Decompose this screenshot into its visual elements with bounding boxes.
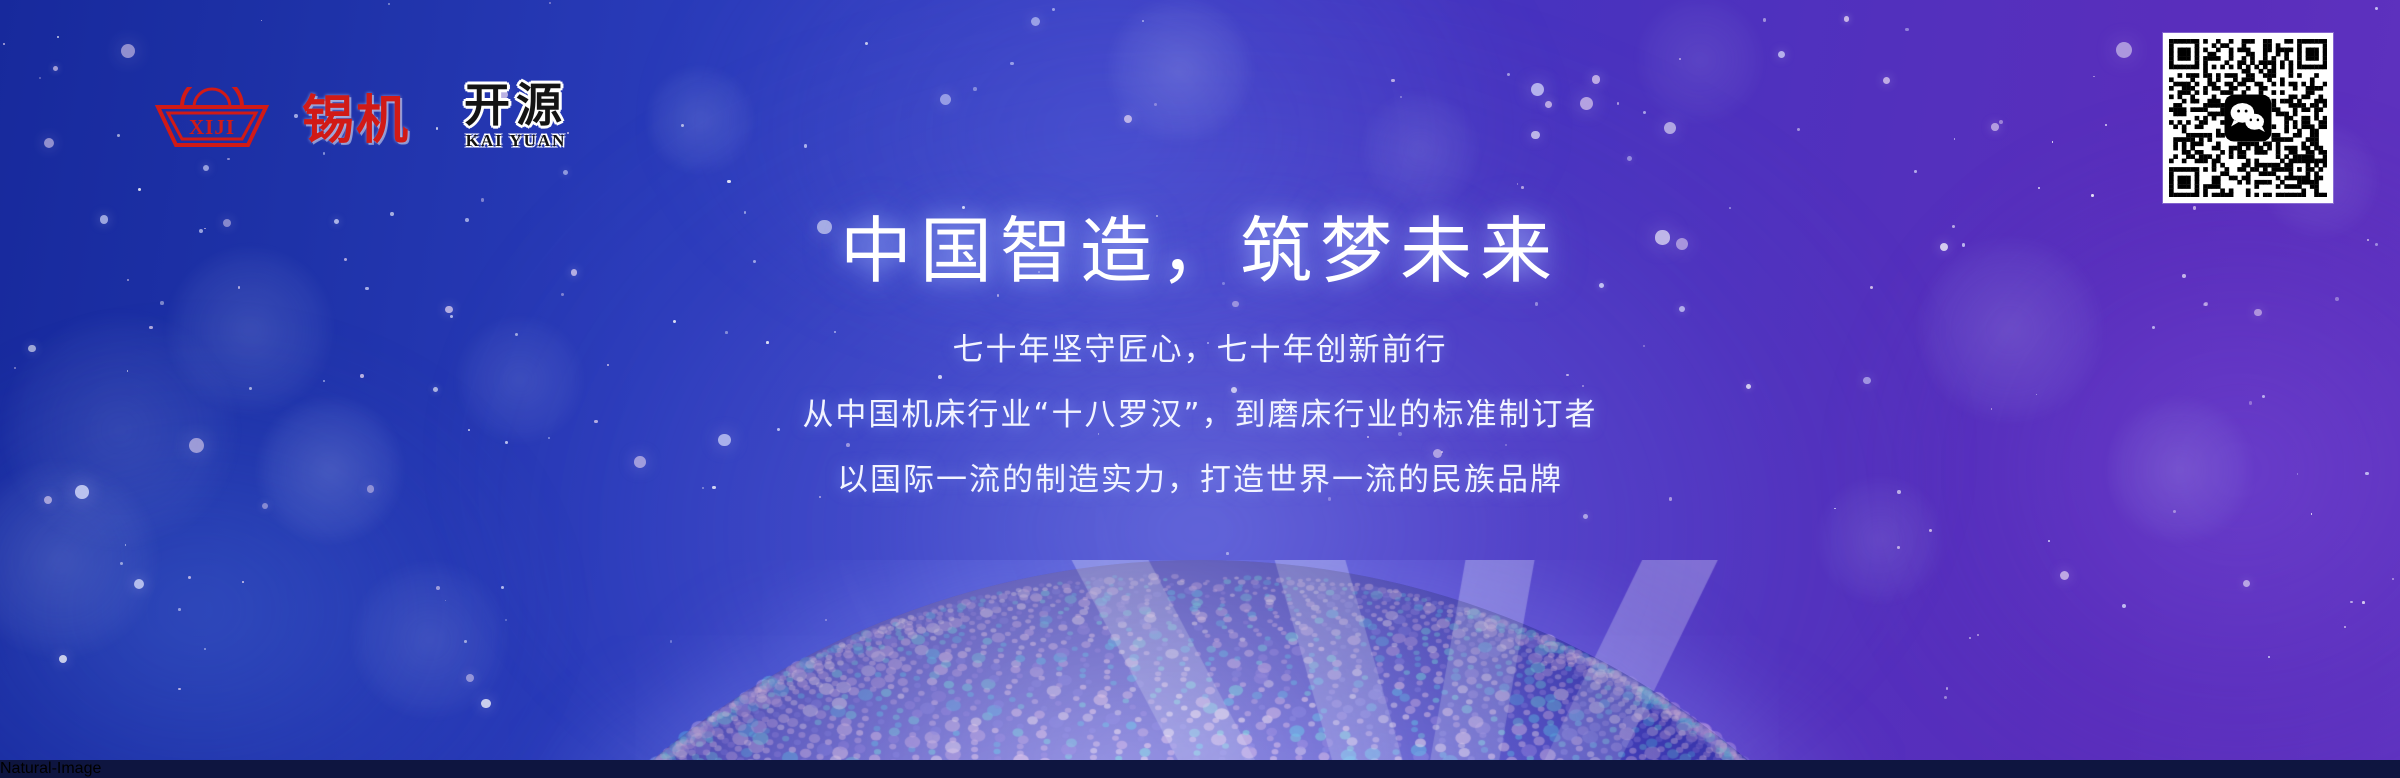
particle-dot [2091, 194, 2094, 197]
particle-dot [2268, 656, 2270, 658]
subline-3: 以国际一流的制造实力，打造世界一流的民族品牌 [0, 465, 2400, 496]
particle-dot [261, 20, 263, 22]
particle-dot [39, 77, 41, 79]
particle-dot [1400, 96, 1402, 98]
bokeh-circle [1635, 0, 1765, 125]
particle-dot [1627, 156, 1632, 161]
particle-dot [865, 42, 869, 46]
particle-dot [2350, 601, 2352, 603]
subline-list: 七十年坚守匠心，七十年创新前行 从中国机床行业“十八罗汉”，到磨床行业的标准制订… [0, 335, 2400, 496]
particle-dot [2105, 124, 2107, 126]
particle-dot [2038, 187, 2040, 189]
particle-dot [1664, 122, 1676, 134]
wechat-qr-code[interactable] [2163, 33, 2333, 203]
dotted-globe [350, 560, 2050, 760]
particle-dot [1389, 606, 1392, 609]
particle-dot [1545, 101, 1552, 108]
particle-dot [323, 152, 325, 154]
particle-dot [2048, 540, 2050, 542]
particle-dot [1507, 73, 1510, 76]
particle-dot [2344, 626, 2346, 628]
particle-dot [505, 619, 507, 621]
particle-dot [1844, 16, 1849, 21]
particle-dot [1669, 497, 1673, 501]
particle-dot [563, 170, 568, 175]
particle-dot [1361, 664, 1368, 671]
promo-banner: XIJI 锡机 开源 KAI YUAN 中国智造，筑梦未来 七十年坚守匠心，七十… [0, 0, 2400, 760]
particle-dot [1897, 546, 1900, 549]
particle-dot [2052, 141, 2054, 143]
particle-dot [804, 144, 807, 147]
particle-dot [2093, 76, 2095, 78]
subline-2: 从中国机床行业“十八罗汉”，到磨床行业的标准制订者 [0, 400, 2400, 431]
particle-dot [53, 66, 58, 71]
particle-dot [1583, 514, 1588, 519]
particle-dot [227, 158, 229, 160]
particle-dot [1031, 17, 1040, 26]
particle-dot [138, 188, 141, 191]
particle-dot [1142, 20, 1144, 22]
globe-dot-pattern [350, 560, 2050, 760]
particle-dot [1531, 83, 1544, 96]
particle-dot [2311, 513, 2313, 515]
particle-dot [1905, 28, 1909, 32]
particle-dot [481, 198, 485, 202]
particle-dot [1834, 508, 1836, 510]
particle-dot [121, 44, 135, 58]
particle-dot [1521, 186, 1524, 189]
particle-dot [1929, 529, 1933, 533]
particle-dot [1124, 115, 1132, 123]
particle-dot [204, 648, 206, 650]
particle-dot [436, 586, 440, 590]
company-logo[interactable]: XIJI 锡机 开源 KAI YUAN [152, 82, 568, 149]
banner-copy: 中国智造，筑梦未来 七十年坚守匠心，七十年创新前行 从中国机床行业“十八罗汉”，… [0, 212, 2400, 496]
particle-dot [2122, 604, 2126, 608]
particle-dot [681, 124, 684, 127]
kaiyuan-mark: 开源 KAI YUAN [464, 82, 568, 149]
bokeh-circle [1360, 90, 1480, 210]
particle-dot [1617, 102, 1619, 104]
particle-dot [1999, 120, 2003, 124]
bokeh-circle [350, 560, 510, 720]
particle-dot [3, 43, 5, 45]
particle-dot [445, 600, 447, 602]
particle-dot [2116, 42, 2132, 58]
particle-dot [134, 579, 144, 589]
particle-dot [1969, 637, 1971, 639]
kaiyuan-cn: 开源 [464, 82, 568, 128]
particle-dot [1010, 62, 1014, 66]
particle-dot [1991, 123, 1998, 130]
particle-dot [973, 87, 977, 91]
particle-dot [1531, 131, 1540, 140]
particle-dot [1592, 75, 1601, 84]
particle-dot [2193, 206, 2196, 209]
particle-dot [1944, 696, 1947, 699]
particle-dot [125, 544, 127, 546]
particle-dot [1729, 207, 1731, 209]
particle-dot [188, 576, 191, 579]
particle-dot [501, 586, 504, 589]
particle-dot [57, 36, 59, 38]
particle-dot [1797, 128, 1800, 131]
bokeh-circle [645, 65, 755, 175]
particle-dot [670, 640, 672, 642]
globe-shading [350, 560, 2050, 760]
particle-dot [59, 655, 67, 663]
particle-dot [2060, 571, 2069, 580]
particle-dot [1580, 97, 1593, 110]
particle-dot [1914, 170, 1917, 173]
particle-dot [1977, 634, 1979, 636]
particle-dot [120, 562, 123, 565]
brand-name-cn: 锡机 [302, 95, 410, 149]
subline-1: 七十年坚守匠心，七十年创新前行 [0, 335, 2400, 366]
particle-dot [117, 134, 120, 137]
particle-dot [481, 699, 491, 709]
particle-dot [44, 138, 54, 148]
particle-dot [727, 180, 730, 183]
particle-dot [2173, 510, 2176, 513]
particle-dot [1051, 662, 1060, 671]
particle-dot [825, 619, 827, 621]
particle-dot [1679, 58, 1681, 60]
particle-dot [178, 608, 181, 611]
particle-dot [242, 581, 244, 583]
particle-dot [940, 94, 951, 105]
particle-dot [1561, 690, 1563, 692]
particle-dot [1763, 18, 1766, 21]
particle-dot [2375, 7, 2378, 10]
particle-dot [1883, 77, 1890, 84]
particle-dot [884, 682, 886, 684]
particle-dot [1226, 552, 1229, 555]
qr-canvas [2169, 39, 2327, 197]
particle-dot [464, 640, 467, 643]
particle-dot [1154, 103, 1157, 106]
particle-dot [1391, 79, 1394, 82]
particle-dot [2243, 580, 2250, 587]
headline: 中国智造，筑梦未来 [0, 212, 2400, 291]
bokeh-circle [1105, 0, 1255, 145]
particle-dot [1954, 138, 1956, 140]
particle-dot [466, 674, 474, 682]
particle-dot [2392, 578, 2394, 580]
particle-dot [262, 503, 268, 509]
particle-dot [1052, 8, 1055, 11]
particle-dot [1643, 111, 1646, 114]
particle-dot [1778, 51, 1785, 58]
globe-sphere [350, 560, 2050, 760]
xiji-badge-icon: XIJI [152, 87, 272, 149]
particle-dot [2362, 601, 2365, 604]
particle-dot [44, 496, 52, 504]
svg-text:XIJI: XIJI [189, 115, 235, 139]
particle-dot [1946, 687, 1949, 690]
kaiyuan-en: KAI YUAN [464, 132, 568, 149]
particle-dot [388, 3, 390, 5]
particle-dot [178, 688, 181, 691]
particle-dot [549, 2, 551, 4]
particle-dot [1517, 183, 1519, 185]
particle-dot [203, 165, 209, 171]
particle-dot [1583, 660, 1586, 663]
